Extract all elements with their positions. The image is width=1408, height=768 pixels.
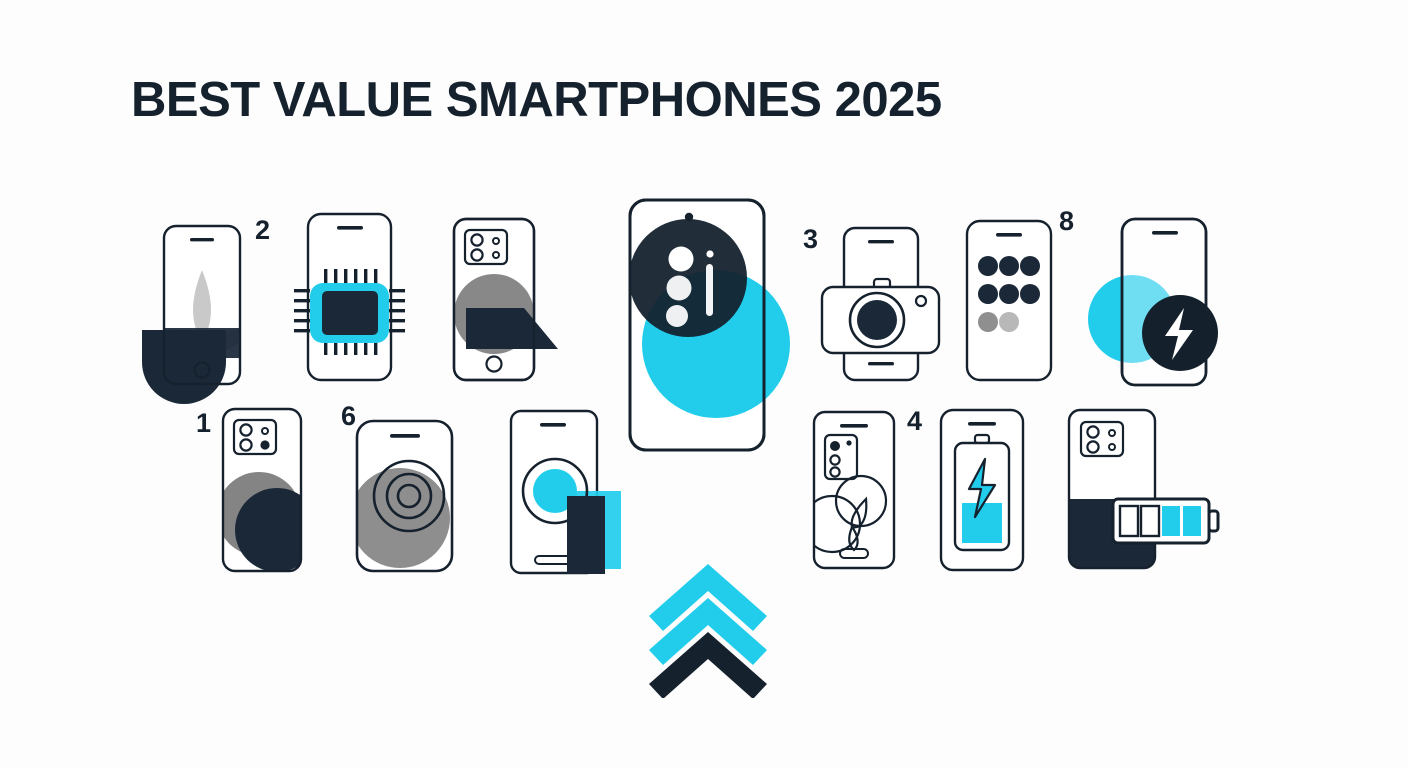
rank-number-8: 8 xyxy=(1059,208,1074,235)
phone-processor-chip-icon xyxy=(292,211,407,383)
phone-abstract-petals-icon xyxy=(138,222,268,392)
phone-wireless-rings-icon xyxy=(348,418,460,574)
phone-battery-level-icon xyxy=(1065,407,1225,571)
upward-chevrons xyxy=(645,558,771,703)
rank-number-1: 1 xyxy=(196,410,211,437)
phone-display-cyan-dot-icon xyxy=(507,408,627,576)
phone-outline-abstract-icon xyxy=(810,409,898,571)
phone-battery-charging-icon xyxy=(937,407,1027,573)
phone-app-grid-icon xyxy=(963,218,1055,383)
infographic-canvas: BEST VALUE SMARTPHONES 2025 2 3 8 1 6 4 xyxy=(0,0,1408,768)
phone-fast-charge-bolt-icon xyxy=(1080,216,1220,388)
phone-camera-module-icon xyxy=(432,216,572,386)
rank-number-4: 4 xyxy=(907,408,922,435)
rank-number-3: 3 xyxy=(803,226,818,253)
phone-camera-body-icon xyxy=(818,224,943,384)
page-title: BEST VALUE SMARTPHONES 2025 xyxy=(131,76,942,125)
phone-rear-camera-circles-icon xyxy=(219,406,309,574)
